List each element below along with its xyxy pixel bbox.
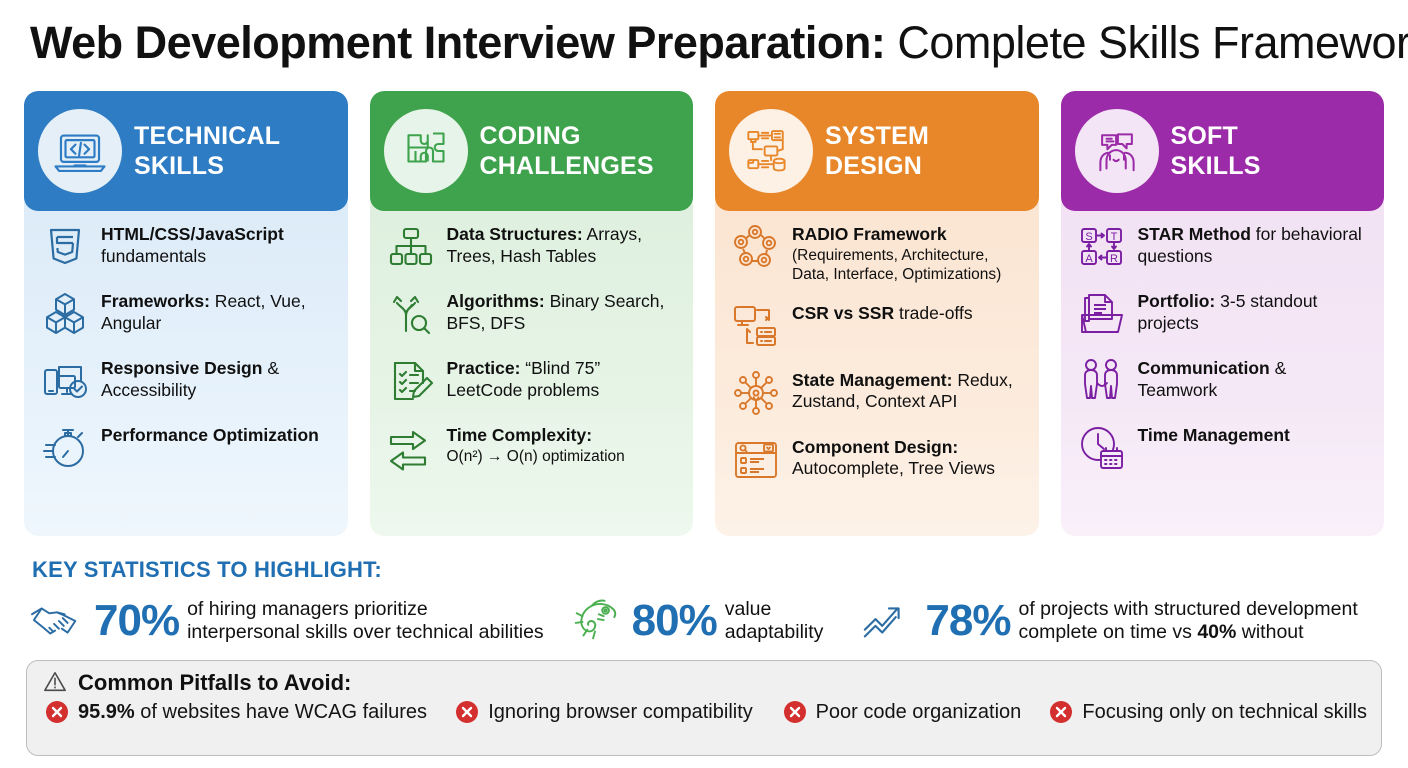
list-item-text: HTML/CSS/JavaScript fundamentals: [101, 221, 334, 267]
pitfall-text: Ignoring browser compatibility: [488, 700, 753, 724]
growth-arrow-icon: [859, 595, 917, 647]
x-circle-icon: [783, 700, 807, 724]
gears-icon: [731, 222, 781, 272]
common-pitfalls-panel: Common Pitfalls to Avoid: 95.9% of websi…: [26, 660, 1382, 756]
list-item[interactable]: HTML/CSS/JavaScript fundamentals: [40, 221, 334, 272]
tree-hierarchy-icon: [386, 222, 436, 272]
card-technical-skills[interactable]: TECHNICAL SKILLS HTML/CSS/JavaScript fun…: [24, 91, 348, 536]
stat-value: 70%: [94, 598, 179, 644]
warning-triangle-icon: [43, 670, 69, 696]
pitfall-item[interactable]: Poor code organization: [783, 700, 1022, 724]
list-item-text: Responsive Design & Accessibility: [101, 355, 334, 401]
list-item-text: Time Management: [1138, 422, 1290, 447]
stat-hiring-managers: 70% of hiring managers prioritize interp…: [28, 595, 544, 647]
list-item[interactable]: Time Management: [1077, 422, 1371, 473]
list-item[interactable]: Portfolio: 3-5 standout projects: [1077, 288, 1371, 339]
list-item-text: STAR Method for behavioral questions: [1138, 221, 1371, 267]
stat-structured-development: 78% of projects with structured developm…: [859, 595, 1357, 647]
stat-value: 78%: [925, 598, 1010, 644]
people-conversation-icon: [1075, 109, 1159, 193]
card-title-system-design: SYSTEM DESIGN: [825, 121, 929, 181]
svg-text:R: R: [1110, 253, 1118, 265]
pitfall-text: Poor code organization: [816, 700, 1022, 724]
list-item-text: Time Complexity:O(n²) → O(n) optimizatio…: [447, 422, 625, 466]
card-title-coding-challenges: CODING CHALLENGES: [480, 121, 654, 181]
key-statistics-label: KEY STATISTICS TO HIGHLIGHT:: [32, 557, 382, 583]
branching-arrows-search-icon: [386, 289, 436, 339]
star-method-diagram-icon: S T A R: [1077, 222, 1127, 272]
ui-component-window-icon: [731, 435, 781, 485]
skill-cards-row: TECHNICAL SKILLS HTML/CSS/JavaScript fun…: [24, 91, 1384, 536]
architecture-diagram-icon: [729, 109, 813, 193]
key-statistics-row: 70% of hiring managers prioritize interp…: [28, 590, 1388, 652]
svg-text:S: S: [1085, 231, 1092, 243]
list-item[interactable]: Responsive Design & Accessibility: [40, 355, 334, 406]
pitfall-item[interactable]: Focusing only on technical skills: [1049, 700, 1367, 724]
x-circle-icon: [1049, 700, 1073, 724]
html5-shield-icon: [40, 222, 90, 272]
list-item-text: Data Structures: Arrays, Trees, Hash Tab…: [447, 221, 680, 267]
card-header-system-design: SYSTEM DESIGN: [715, 91, 1039, 211]
pitfalls-list: 95.9% of websites have WCAG failures Ign…: [43, 700, 1367, 724]
list-item[interactable]: Performance Optimization: [40, 422, 334, 473]
list-item[interactable]: CSR vs SSR trade-offs: [731, 300, 1025, 351]
x-circle-icon: [455, 700, 479, 724]
card-soft-skills[interactable]: SOFT SKILLS S T A: [1061, 91, 1385, 536]
card-body-soft-skills: S T A R STAR Method for behavioral quest…: [1061, 197, 1385, 536]
state-node-network-icon: [731, 368, 781, 418]
portfolio-folder-icon: [1077, 289, 1127, 339]
list-item[interactable]: Communication & Teamwork: [1077, 355, 1371, 406]
responsive-devices-check-icon: [40, 356, 90, 406]
card-coding-challenges[interactable]: CODING CHALLENGES: [370, 91, 694, 536]
cubes-icon: [40, 289, 90, 339]
puzzle-pieces-icon: [384, 109, 468, 193]
page-title: Web Development Interview Preparation: C…: [30, 12, 1388, 74]
list-item-text: Algorithms: Binary Search, BFS, DFS: [447, 288, 680, 334]
double-arrow-icon: [386, 423, 436, 473]
stat-description: value adaptability: [725, 598, 824, 644]
list-item[interactable]: Algorithms: Binary Search, BFS, DFS: [386, 288, 680, 339]
card-system-design[interactable]: SYSTEM DESIGN: [715, 91, 1039, 536]
card-header-technical-skills: TECHNICAL SKILLS: [24, 91, 348, 211]
page-title-light: Complete Skills Framework: [885, 17, 1408, 68]
stat-description: of hiring managers prioritize interperso…: [187, 598, 544, 644]
card-body-system-design: RADIO Framework(Requirements, Architectu…: [715, 197, 1039, 536]
list-item-text: RADIO Framework(Requirements, Architectu…: [792, 221, 1025, 284]
list-item-text: State Management: Redux, Zustand, Contex…: [792, 367, 1025, 413]
pitfall-item[interactable]: Ignoring browser compatibility: [455, 700, 753, 724]
laptop-code-icon: [38, 109, 122, 193]
infographic-page: Web Development Interview Preparation: C…: [0, 0, 1408, 768]
list-item[interactable]: Component Design: Autocomplete, Tree Vie…: [731, 434, 1025, 485]
stat-description: of projects with structured development …: [1018, 598, 1357, 644]
pitfall-item[interactable]: 95.9% of websites have WCAG failures: [45, 700, 427, 724]
list-item[interactable]: Time Complexity:O(n²) → O(n) optimizatio…: [386, 422, 680, 473]
stat-adaptability: 80% value adaptability: [566, 595, 824, 647]
list-item[interactable]: RADIO Framework(Requirements, Architectu…: [731, 221, 1025, 284]
card-body-technical-skills: HTML/CSS/JavaScript fundamentals Framew: [24, 197, 348, 536]
list-item-text: Component Design: Autocomplete, Tree Vie…: [792, 434, 1025, 480]
list-item-text: Portfolio: 3-5 standout projects: [1138, 288, 1371, 334]
client-server-icon: [731, 301, 781, 351]
stat-description-line2: complete on time vs 40% without: [1018, 621, 1357, 644]
list-item-text: Performance Optimization: [101, 422, 319, 447]
x-circle-icon: [45, 700, 69, 724]
stopwatch-icon: [40, 423, 90, 473]
list-item-text: Communication & Teamwork: [1138, 355, 1371, 401]
list-item[interactable]: Frameworks: React, Vue, Angular: [40, 288, 334, 339]
clock-calendar-icon: [1077, 423, 1127, 473]
list-item-text: Frameworks: React, Vue, Angular: [101, 288, 334, 334]
list-item[interactable]: Practice: “Blind 75” LeetCode problems: [386, 355, 680, 406]
list-item[interactable]: S T A R STAR Method for behavioral quest…: [1077, 221, 1371, 272]
handshake-icon: [28, 595, 86, 647]
card-title-technical-skills: TECHNICAL SKILLS: [134, 121, 280, 181]
chameleon-icon: [566, 595, 624, 647]
list-item[interactable]: Data Structures: Arrays, Trees, Hash Tab…: [386, 221, 680, 272]
list-item[interactable]: State Management: Redux, Zustand, Contex…: [731, 367, 1025, 418]
checklist-pencil-icon: [386, 356, 436, 406]
pitfall-text: Focusing only on technical skills: [1082, 700, 1367, 724]
svg-text:A: A: [1085, 253, 1093, 265]
pitfall-text: 95.9% of websites have WCAG failures: [78, 700, 427, 724]
pitfalls-title: Common Pitfalls to Avoid:: [78, 670, 351, 696]
card-header-coding-challenges: CODING CHALLENGES: [370, 91, 694, 211]
list-item-text: CSR vs SSR trade-offs: [792, 300, 973, 325]
list-item-text: Practice: “Blind 75” LeetCode problems: [447, 355, 680, 401]
card-header-soft-skills: SOFT SKILLS: [1061, 91, 1385, 211]
stat-value: 80%: [632, 598, 717, 644]
page-title-bold: Web Development Interview Preparation:: [30, 17, 885, 68]
card-body-coding-challenges: Data Structures: Arrays, Trees, Hash Tab…: [370, 197, 694, 536]
handshake-people-icon: [1077, 356, 1127, 406]
pitfalls-header: Common Pitfalls to Avoid:: [43, 670, 1367, 696]
card-title-soft-skills: SOFT SKILLS: [1171, 121, 1261, 181]
